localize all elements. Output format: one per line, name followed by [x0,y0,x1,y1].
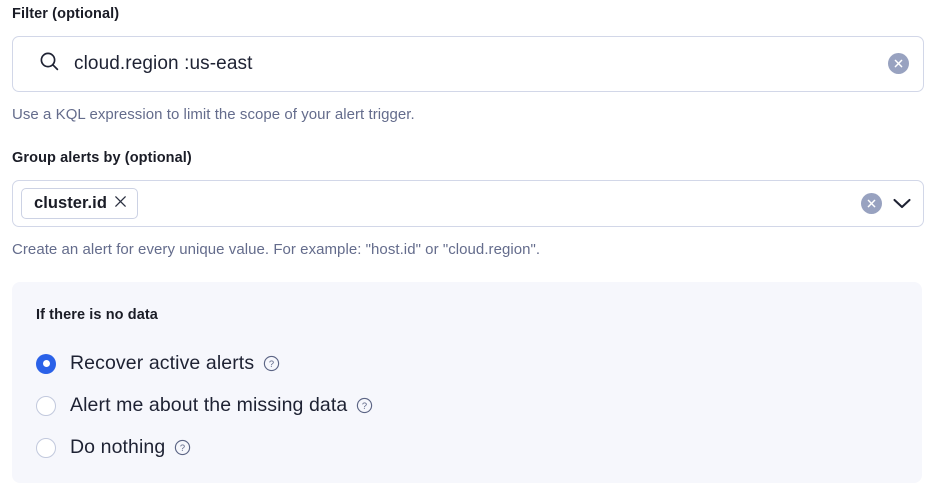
group-alerts-pill-cluster-id[interactable]: cluster.id [21,188,138,219]
radio-indicator[interactable] [36,438,56,458]
radio-label: Do nothing [70,438,165,458]
filter-input-value[interactable]: cloud.region :us-east [74,54,888,73]
search-icon [39,51,60,77]
group-alerts-combobox[interactable]: cluster.id [12,180,924,227]
svg-text:?: ? [362,400,367,411]
group-alerts-label: Group alerts by (optional) [12,151,924,166]
filter-clear-button[interactable] [888,53,909,74]
radio-option-recover-active-alerts[interactable]: Recover active alerts ? [36,343,922,385]
radio-indicator[interactable] [36,396,56,416]
filter-helper-text: Use a KQL expression to limit the scope … [12,107,924,122]
filter-label: Filter (optional) [12,7,924,22]
question-mark-circle-icon[interactable]: ? [356,397,373,414]
radio-label: Recover active alerts [70,354,254,374]
question-mark-circle-icon[interactable]: ? [174,439,191,456]
chevron-down-icon[interactable] [891,192,913,214]
question-mark-circle-icon[interactable]: ? [263,355,280,372]
radio-indicator[interactable] [36,354,56,374]
group-alerts-field-group: Group alerts by (optional) cluster.id [12,151,924,257]
radio-option-alert-me-about-the-missing-data[interactable]: Alert me about the missing data ? [36,385,922,427]
pill-label: cluster.id [34,194,107,213]
svg-text:?: ? [269,358,274,369]
radio-option-do-nothing[interactable]: Do nothing ? [36,427,922,469]
alert-conditions-form: Filter (optional) cloud.region :us-east … [0,0,932,501]
svg-text:?: ? [180,442,185,453]
filter-field-group: Filter (optional) cloud.region :us-east … [12,7,924,122]
no-data-radio-group: Recover active alerts ? Alert me about t… [36,343,922,469]
group-alerts-clear-button[interactable] [861,193,882,214]
filter-input[interactable]: cloud.region :us-east [12,36,924,92]
no-data-behavior-panel: If there is no data Recover active alert… [12,282,922,483]
group-alerts-helper-text: Create an alert for every unique value. … [12,242,924,257]
no-data-panel-title: If there is no data [36,308,922,323]
radio-label: Alert me about the missing data [70,396,347,416]
close-icon[interactable] [114,194,127,213]
group-alerts-actions [861,192,913,214]
